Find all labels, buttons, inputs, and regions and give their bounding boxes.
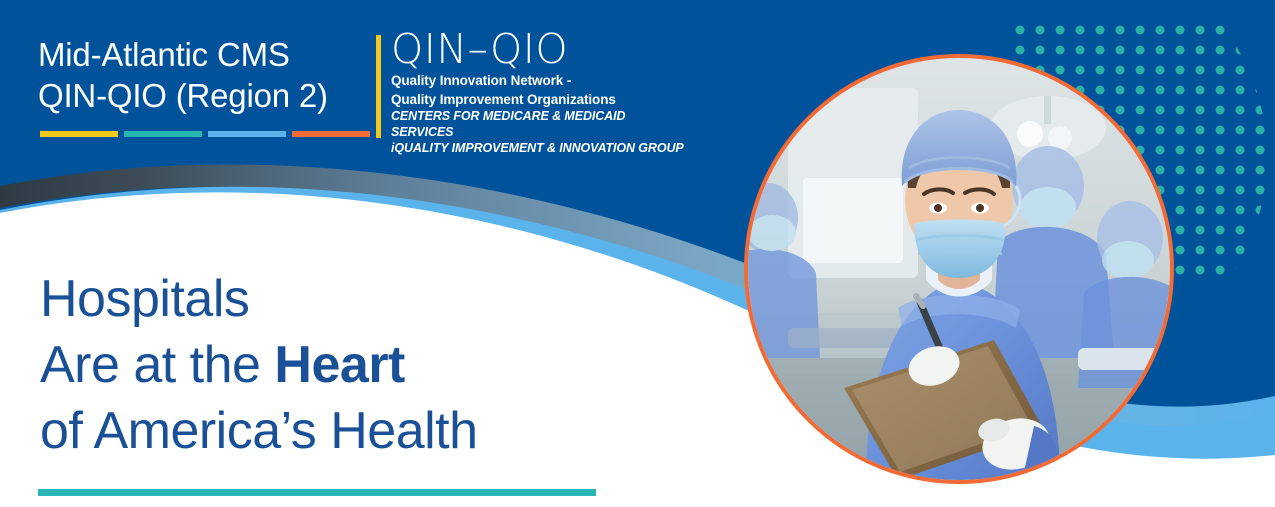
banner: Mid-Atlantic CMS QIN-QIO (Region 2) QIN–… <box>0 0 1275 507</box>
headline-line-3: of America’s Health <box>40 398 478 464</box>
organization-title: Mid-Atlantic CMS QIN-QIO (Region 2) <box>38 34 368 116</box>
headline-line-1: Hospitals <box>40 266 478 332</box>
accent-bar-teal <box>124 131 202 137</box>
logo-subtitle-line-2: Quality Improvement Organizations <box>391 92 691 108</box>
qin-qio-logo: QIN–QIO Quality Innovation Network - Qua… <box>391 28 691 156</box>
org-title-line-2: QIN-QIO (Region 2) <box>38 75 368 116</box>
headline-line-2: Are at the Heart <box>40 332 478 398</box>
accent-bar-yellow <box>40 131 118 137</box>
accent-bar-orange <box>292 131 370 137</box>
logo-agency-line-2: iQUALITY IMPROVEMENT & INNOVATION GROUP <box>391 140 691 156</box>
headline-underline-rule <box>38 489 596 496</box>
hero-photo <box>744 54 1174 484</box>
logo-subtitle-line-1: Quality Innovation Network - <box>391 73 691 89</box>
logo-agency-line-1: CENTERS FOR MEDICARE & MEDICAID SERVICES <box>391 108 691 140</box>
accent-bar-light-blue <box>208 131 286 137</box>
accent-bar-group <box>40 131 370 137</box>
headline-emphasis: Heart <box>274 336 404 394</box>
headline: Hospitals Are at the Heart of America’s … <box>40 266 478 464</box>
vertical-divider <box>376 35 381 138</box>
org-title-line-1: Mid-Atlantic CMS <box>38 34 368 75</box>
headline-line-2-prefix: Are at the <box>40 336 274 394</box>
logo-wordmark: QIN–QIO <box>391 28 691 70</box>
